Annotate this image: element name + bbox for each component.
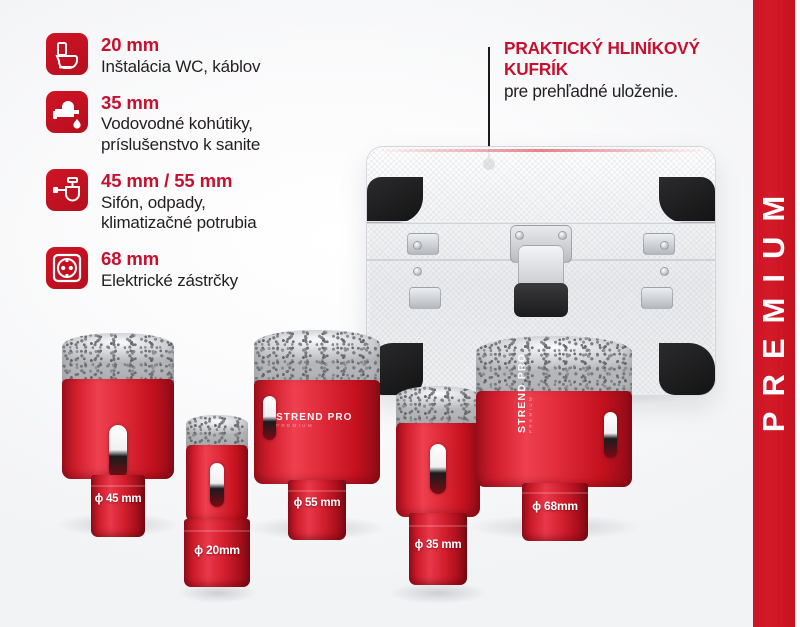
callout-leader-line — [488, 47, 490, 162]
feature-description: Inštalácia WC, káblov — [101, 57, 260, 78]
feature-text: 45 mm / 55 mm Sifón, odpady, klimatizačn… — [101, 169, 257, 234]
case-rivet — [413, 267, 422, 276]
bit-size-label: ɸ 45 mm — [91, 493, 145, 505]
bit-diamond-crown — [186, 415, 248, 449]
bit-brand-subtext: PREMIUM — [528, 353, 533, 433]
premium-side-band: PREMIUM — [753, 0, 795, 627]
feature-size: 35 mm — [101, 92, 260, 114]
case-lid-seam — [367, 221, 715, 224]
feature-size: 45 mm / 55 mm — [101, 170, 257, 192]
bit-diamond-crown — [254, 330, 380, 386]
feature-text: 68 mm Elektrické zástrčky — [101, 247, 238, 292]
feature-item: 68 mm Elektrické zástrčky — [46, 247, 346, 292]
bit-diamond-crown — [62, 333, 174, 385]
bit-size-label: ɸ 35 mm — [409, 539, 467, 551]
feature-description: Vodovodné kohútiky, príslušenstvo k sani… — [101, 114, 260, 155]
callout: PRAKTICKÝ HLINÍKOVÝ KUFRÍK pre prehľadné… — [504, 38, 744, 102]
bit-brand-label: STREND PRO PREMIUM — [276, 412, 353, 428]
bit-grit-texture — [396, 386, 480, 428]
case-rivet — [660, 267, 669, 276]
siphon-icon — [46, 169, 88, 211]
bit-brand-label: STREND PRO PREMIUM — [516, 353, 533, 433]
latch-rivet — [515, 231, 524, 240]
latch-base — [514, 283, 568, 317]
bit-grit-texture — [476, 336, 632, 398]
product-infographic: 20 mm Inštalácia WC, káblov 35 mm Vodovo… — [0, 0, 800, 627]
bit-shank: ɸ 55 mm — [288, 480, 346, 540]
feature-item: 20 mm Inštalácia WC, káblov — [46, 33, 346, 78]
bit-shank: ɸ 68mm — [522, 483, 588, 541]
feature-item: 35 mm Vodovodné kohútiky, príslušenstvo … — [46, 91, 346, 156]
bit-brand-text: STREND PRO — [276, 412, 353, 423]
power-socket-icon — [46, 247, 88, 289]
premium-label: PREMIUM — [756, 180, 792, 446]
bit-grit-texture — [62, 333, 174, 385]
bit-shank: ɸ 35 mm — [409, 513, 467, 585]
bit-grit-texture — [254, 330, 380, 386]
feature-description: Elektrické zástrčky — [101, 271, 238, 292]
bit-slot — [210, 463, 224, 507]
case-corner — [659, 343, 715, 395]
feature-list: 20 mm Inštalácia WC, káblov 35 mm Vodovo… — [46, 33, 346, 305]
bit-slot — [263, 396, 276, 440]
bit-brand-text: STREND PRO — [516, 353, 528, 433]
band-outer-edge — [795, 0, 800, 627]
bit-size-label: ɸ 68mm — [522, 499, 588, 513]
case-red-stripe — [375, 149, 709, 152]
bit-grit-texture — [186, 415, 248, 449]
bit-diamond-crown — [396, 386, 480, 428]
bit-shank: ɸ 45 mm — [91, 475, 145, 537]
bit-slot — [430, 444, 446, 494]
case-rivet — [413, 241, 422, 250]
faucet-icon — [46, 91, 88, 133]
case-corner — [659, 177, 715, 223]
bit-size-label: ɸ 55 mm — [288, 497, 346, 509]
callout-subtitle: pre prehľadné uloženie. — [504, 81, 744, 102]
feature-text: 20 mm Inštalácia WC, káblov — [101, 33, 260, 78]
case-side-clasp-left[interactable] — [407, 233, 439, 255]
toilet-icon — [46, 33, 88, 75]
feature-size: 68 mm — [101, 248, 238, 270]
bit-size-label: ɸ 20mm — [184, 543, 250, 557]
case-side-clasp-left-lower[interactable] — [409, 287, 441, 309]
bit-shank: ɸ 20mm — [184, 519, 250, 587]
bit-brand-subtext: PREMIUM — [276, 423, 353, 428]
case-side-clasp-right-lower[interactable] — [641, 287, 673, 309]
feature-item: 45 mm / 55 mm Sifón, odpady, klimatizačn… — [46, 169, 346, 234]
bit-diamond-crown — [476, 336, 632, 398]
bit-slot — [604, 412, 617, 458]
callout-title: PRAKTICKÝ HLINÍKOVÝ KUFRÍK — [504, 38, 744, 79]
case-side-clasp-right[interactable] — [643, 233, 675, 255]
bit-slot — [109, 425, 127, 479]
latch-rivet — [558, 231, 567, 240]
feature-size: 20 mm — [101, 34, 260, 56]
case-corner — [367, 177, 423, 223]
case-latch[interactable] — [510, 225, 572, 317]
case-rivet — [660, 241, 669, 250]
feature-text: 35 mm Vodovodné kohútiky, príslušenstvo … — [101, 91, 260, 156]
bit-shadow — [388, 582, 488, 604]
feature-description: Sifón, odpady, klimatizačné potrubia — [101, 193, 257, 234]
